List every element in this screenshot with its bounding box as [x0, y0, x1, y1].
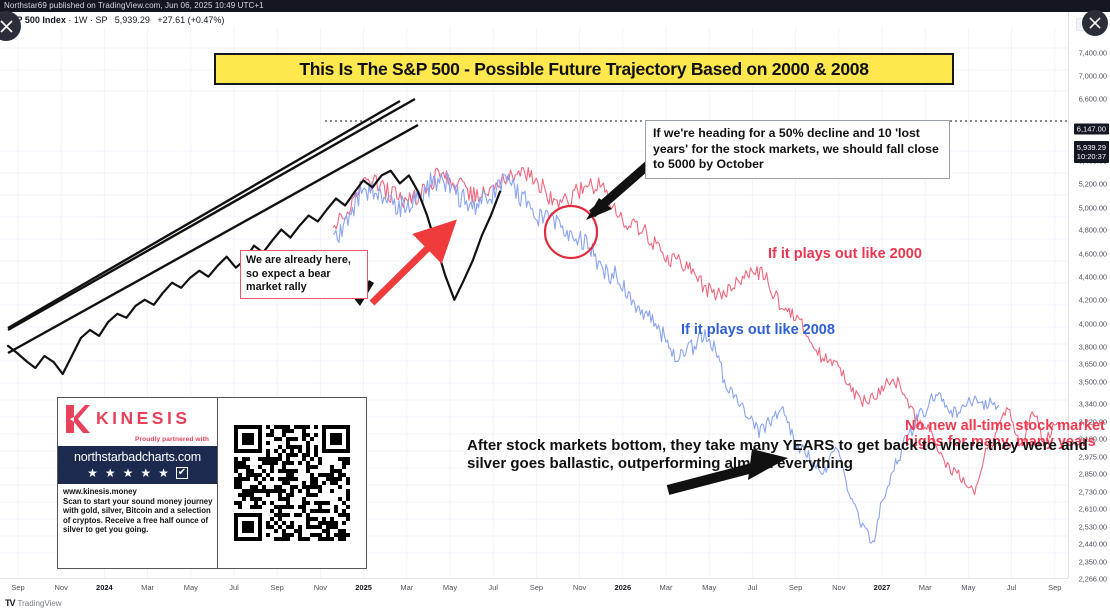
price-axis-label: 3,500.00	[1079, 377, 1107, 386]
time-axis-label: 2025	[355, 583, 372, 592]
callout-rally-text: We are already here, so expect a bear ma…	[246, 254, 362, 295]
price-axis-label: 6,600.00	[1079, 95, 1107, 104]
ticker-change: +27.61	[157, 15, 185, 25]
time-axis-label: 2026	[614, 583, 631, 592]
price-axis-label: 2,350.00	[1079, 557, 1107, 566]
ticker-interval[interactable]: 1W	[74, 15, 88, 25]
price-axis-label: 2,610.00	[1079, 505, 1107, 514]
red-arrow-annotation	[372, 244, 432, 303]
time-axis-label: 2024	[96, 583, 113, 592]
label-scenario-2000: If it plays out like 2000	[768, 246, 922, 262]
checkbox-check-icon: ✔	[176, 467, 188, 479]
time-axis-label: 2027	[874, 583, 891, 592]
time-axis-label: Jul	[748, 583, 758, 592]
price-axis-label: 4,600.00	[1079, 249, 1107, 258]
time-axis-label: May	[443, 583, 457, 592]
time-axis-label: Nov	[832, 583, 845, 592]
kinesis-logo-row: KINESIS	[58, 398, 217, 436]
time-axis-label: Sep	[789, 583, 802, 592]
star-icon: ★	[87, 467, 98, 479]
time-axis-label: Sep	[1048, 583, 1061, 592]
series-2008-path	[333, 173, 999, 544]
label-scenario-2008: If it plays out like 2008	[681, 322, 835, 338]
close-icon	[0, 20, 13, 33]
time-axis-label: Mar	[141, 583, 154, 592]
star-icon: ★	[140, 467, 151, 479]
ticker-change-percent: (+0.47%)	[188, 15, 225, 25]
callout-bear-market-rally: We are already here, so expect a bear ma…	[240, 250, 368, 299]
price-axis[interactable]: USD 7,400.007,000.006,600.005,400.005,20…	[1068, 12, 1110, 578]
price-axis-label: 2,730.00	[1079, 487, 1107, 496]
ticker-legend[interactable]: S&P 500 Index · 1W · SP 5,939.29 +27.61 …	[0, 12, 224, 28]
current-price-time: 10:20:37	[1077, 152, 1106, 161]
time-axis-label: Jul	[229, 583, 239, 592]
kinesis-k-icon	[64, 404, 91, 434]
star-icon: ★	[123, 467, 134, 479]
publisher-bar: Northstar69 published on TradingView.com…	[0, 0, 1110, 12]
label-bottom-commentary: After stock markets bottom, they take ma…	[467, 437, 1110, 472]
price-axis-label: 4,800.00	[1079, 226, 1107, 235]
time-axis-label: Sep	[271, 583, 284, 592]
chart-title-banner: This Is The S&P 500 - Possible Future Tr…	[214, 53, 954, 85]
price-axis-label: 4,400.00	[1079, 272, 1107, 281]
promo-partner-band: northstarbadcharts.com ★ ★ ★ ★ ★ ✔	[58, 446, 217, 484]
time-axis-label: Nov	[55, 583, 68, 592]
chart-title-text: This Is The S&P 500 - Possible Future Tr…	[299, 59, 868, 80]
time-axis-label: May	[702, 583, 716, 592]
kinesis-promo-card: KINESIS Proudly partnered with northstar…	[57, 397, 367, 569]
price-axis-label: 2,530.00	[1079, 522, 1107, 531]
star-icon: ★	[105, 467, 116, 479]
promo-star-rating: ★ ★ ★ ★ ★ ✔	[62, 467, 213, 479]
black-arrow-october	[586, 165, 648, 220]
publisher-text: Northstar69 published on TradingView.com…	[4, 1, 264, 10]
promo-left-column: KINESIS Proudly partnered with northstar…	[58, 398, 218, 568]
price-axis-label: 5,200.00	[1079, 180, 1107, 189]
ticker-exchange: SP	[95, 15, 107, 25]
price-axis-label: 3,800.00	[1079, 342, 1107, 351]
promo-body: www.kinesis.money Scan to start your sou…	[58, 484, 217, 539]
price-axis-label: 3,340.00	[1079, 400, 1107, 409]
price-axis-label: 5,000.00	[1079, 203, 1107, 212]
price-axis-label: 4,000.00	[1079, 319, 1107, 328]
price-axis-label: 4,200.00	[1079, 296, 1107, 305]
close-icon	[1089, 17, 1101, 29]
current-price-value: 5,939.29	[1077, 143, 1106, 152]
channel-lower-line	[8, 125, 418, 353]
price-axis-label: 3,650.00	[1079, 360, 1107, 369]
promo-partner-site: northstarbadcharts.com	[62, 450, 213, 464]
time-axis-label: Jul	[488, 583, 498, 592]
promo-website: www.kinesis.money	[63, 487, 213, 497]
time-axis-label: Mar	[660, 583, 673, 592]
time-axis-label: Sep	[530, 583, 543, 592]
kinesis-wordmark: KINESIS	[96, 410, 191, 428]
star-icon: ★	[158, 467, 169, 479]
ticker-sep-1: ·	[68, 15, 71, 25]
tradingview-logo-icon: TV	[5, 598, 15, 608]
ticker-sep-2: ·	[90, 15, 93, 25]
price-axis-label: 7,000.00	[1079, 72, 1107, 81]
time-axis-label: Jul	[1007, 583, 1017, 592]
chart-screenshot: Northstar69 published on TradingView.com…	[0, 0, 1110, 612]
time-axis-label: Sep	[11, 583, 24, 592]
price-level-tag: 6,147.00	[1074, 124, 1109, 135]
price-axis-label: 7,400.00	[1079, 48, 1107, 57]
tradingview-label: TradingView	[18, 599, 62, 608]
time-axis-label: Mar	[919, 583, 932, 592]
time-axis-label: Mar	[400, 583, 413, 592]
current-price-tag: 5,939.2910:20:37	[1074, 141, 1109, 163]
ticker-last-price: 5,939.29	[115, 15, 150, 25]
promo-body-text: Scan to start your sound money journey w…	[63, 497, 212, 535]
price-axis-label: 2,266.00	[1079, 575, 1107, 584]
time-axis-label: Nov	[314, 583, 327, 592]
callout-october-decline: If we're heading for a 50% decline and 1…	[645, 120, 950, 179]
close-icon-right[interactable]	[1082, 10, 1108, 36]
qr-code-icon	[234, 425, 350, 541]
time-axis-label: May	[184, 583, 198, 592]
tradingview-watermark: TV TradingView	[5, 598, 62, 608]
callout-october-text: If we're heading for a 50% decline and 1…	[653, 126, 942, 173]
promo-partner-line: Proudly partnered with	[58, 436, 217, 446]
time-axis-label: Nov	[573, 583, 586, 592]
time-axis[interactable]: SepNov2024MarMayJulSepNov2025MarMayJulSe…	[0, 578, 1068, 596]
promo-right-column	[218, 398, 366, 568]
price-axis-label: 2,440.00	[1079, 540, 1107, 549]
time-axis-label: May	[961, 583, 975, 592]
